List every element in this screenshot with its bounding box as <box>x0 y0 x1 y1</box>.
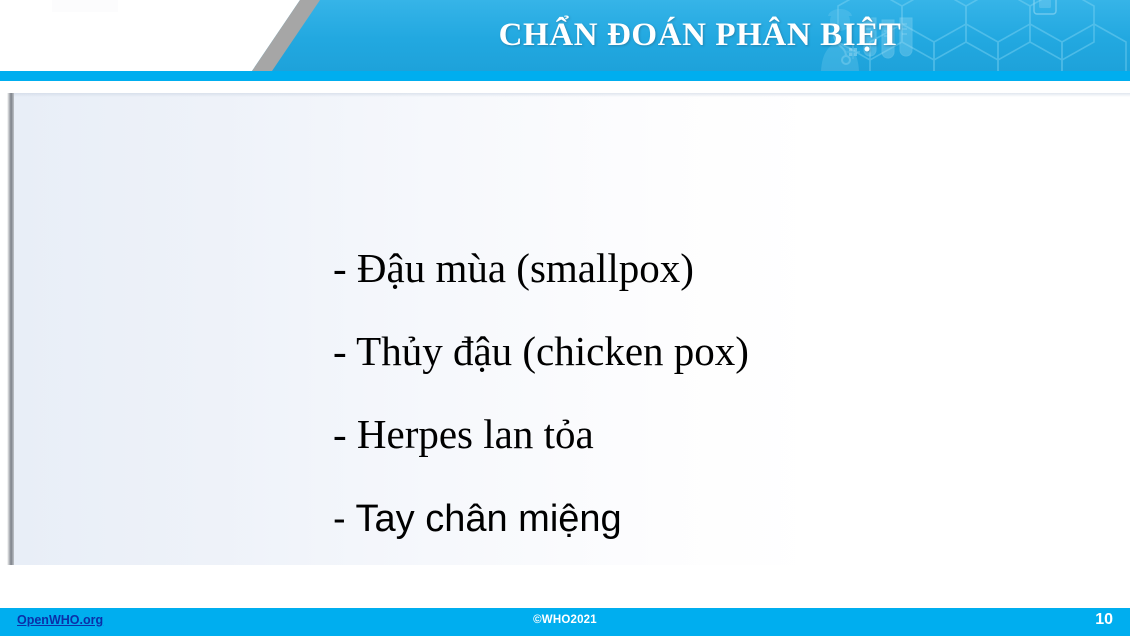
slide-footer: OpenWHO.org ©WHO2021 10 <box>0 608 1130 636</box>
slide-canvas: CHẨN ĐOÁN PHÂN BIỆT - Đậu mùa (smallpox)… <box>0 0 1130 636</box>
list-item: - Herpes lan tỏa <box>333 414 594 455</box>
list-item: - Tay chân miệng <box>333 500 622 538</box>
list-item: - Đậu mùa (smallpox) <box>333 248 694 289</box>
page-number: 10 <box>1095 611 1113 629</box>
who-logo-ghost-icon <box>52 0 118 12</box>
page-title: CHẨN ĐOÁN PHÂN BIỆT <box>330 0 1070 71</box>
list-item: - Thủy đậu (chicken pox) <box>333 331 749 372</box>
header-accent-band <box>0 71 1130 81</box>
copyright-text: ©WHO2021 <box>0 614 1130 626</box>
slide-header: CHẨN ĐOÁN PHÂN BIỆT <box>0 0 1130 71</box>
content-panel-top-edge <box>14 93 1130 97</box>
